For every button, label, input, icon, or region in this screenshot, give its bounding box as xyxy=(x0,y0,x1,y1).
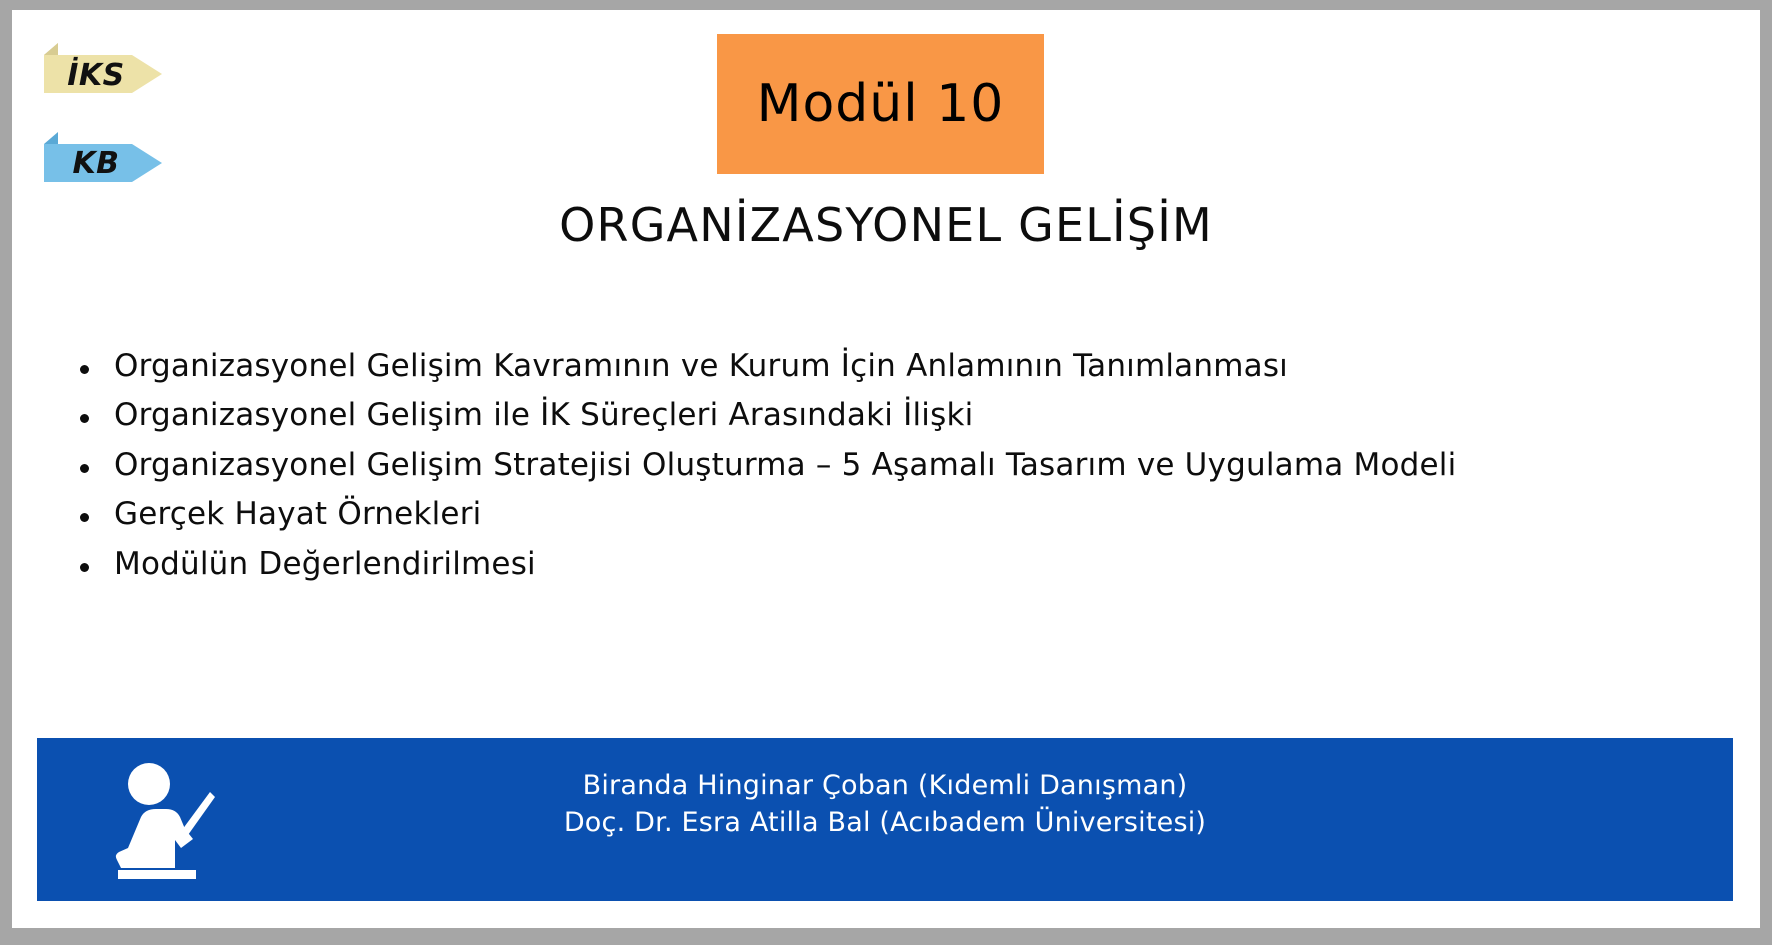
page-title: ORGANİZASYONEL GELİŞİM xyxy=(12,200,1760,251)
presenter-line-2: Doç. Dr. Esra Atilla Bal (Acıbadem Ünive… xyxy=(37,805,1733,842)
list-item: Organizasyonel Gelişim ile İK Süreçleri … xyxy=(66,399,1706,432)
agenda-list: Organizasyonel Gelişim Kavramının ve Kur… xyxy=(66,350,1706,597)
list-item: Organizasyonel Gelişim Stratejisi Oluştu… xyxy=(66,449,1706,482)
tag-iks-label: İKS xyxy=(67,61,125,91)
list-item: Gerçek Hayat Örnekleri xyxy=(66,498,1706,531)
slide-canvas: İKS KB Modül 10 ORGANİZASYONEL GELİŞİM O… xyxy=(12,10,1760,928)
tag-kb-label: KB xyxy=(72,149,119,179)
presenter-footer-bar: Biranda Hinginar Çoban (Kıdemli Danışman… xyxy=(37,738,1733,901)
tag-iks[interactable]: İKS xyxy=(44,43,162,105)
slide-frame: İKS KB Modül 10 ORGANİZASYONEL GELİŞİM O… xyxy=(0,0,1772,945)
module-chip-label: Modül 10 xyxy=(757,78,1005,130)
tag-kb[interactable]: KB xyxy=(44,130,162,192)
list-item: Organizasyonel Gelişim Kavramının ve Kur… xyxy=(66,350,1706,383)
module-chip: Modül 10 xyxy=(717,34,1044,174)
presenter-names: Biranda Hinginar Çoban (Kıdemli Danışman… xyxy=(37,768,1733,841)
list-item: Modülün Değerlendirilmesi xyxy=(66,548,1706,581)
presenter-line-1: Biranda Hinginar Çoban (Kıdemli Danışman… xyxy=(37,768,1733,805)
